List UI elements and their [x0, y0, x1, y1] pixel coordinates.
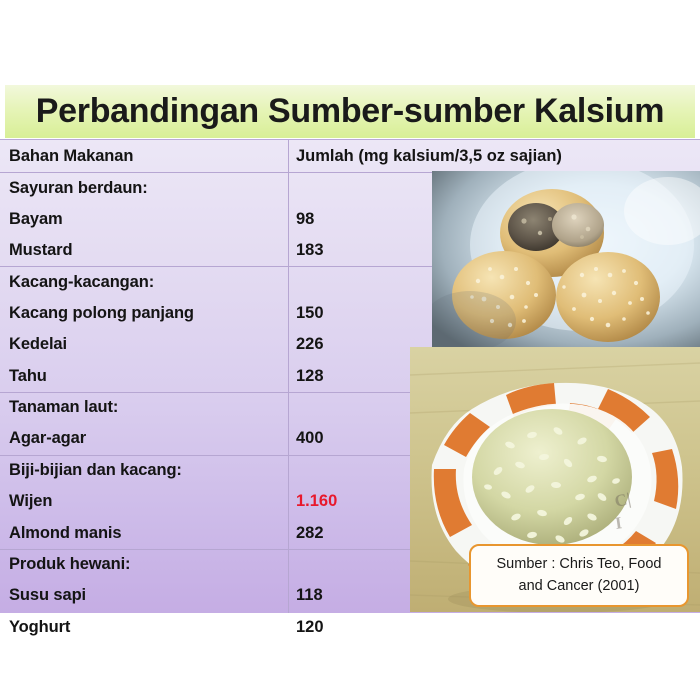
row-amount-value: 226: [296, 329, 416, 360]
row-food-label: Wijen: [9, 486, 281, 517]
row-amount-value: 98: [296, 203, 416, 234]
table-row: Yoghurt120: [0, 612, 700, 643]
row-food-label: Tahu: [9, 360, 281, 391]
sesame-balls-photo: [432, 171, 700, 347]
row-food-label: Almond manis: [9, 517, 281, 548]
row-amount-value: [296, 267, 416, 297]
source-line-2: and Cancer (2001): [519, 576, 640, 597]
row-amount-value: [296, 393, 416, 423]
row-amount-value: 183: [296, 235, 416, 266]
column-header-food: Bahan Makanan: [9, 140, 281, 172]
row-food-label: Bayam: [9, 203, 281, 234]
row-food-label: Kacang polong panjang: [9, 298, 281, 329]
row-amount-value: 400: [296, 423, 416, 454]
row-group-label: Sayuran berdaun:: [9, 173, 281, 203]
row-group-label: Biji-bijian dan kacang:: [9, 456, 281, 486]
row-amount-value: 120: [296, 612, 416, 643]
row-group-label: Produk hewani:: [9, 550, 281, 580]
row-food-label: Kedelai: [9, 329, 281, 360]
source-citation-box: Sumber : Chris Teo, Food and Cancer (200…: [469, 544, 689, 607]
row-amount-value: [296, 550, 416, 580]
row-amount-value: 150: [296, 298, 416, 329]
row-amount-value: [296, 173, 416, 203]
page-title: Perbandingan Sumber-sumber Kalsium: [36, 92, 664, 131]
row-food-label: Yoghurt: [9, 612, 281, 643]
table-header-row: Bahan MakananJumlah (mg kalsium/3,5 oz s…: [0, 140, 700, 172]
row-food-label: Mustard: [9, 235, 281, 266]
row-food-label: Agar-agar: [9, 423, 281, 454]
row-group-label: Kacang-kacangan:: [9, 267, 281, 297]
column-header-amount: Jumlah (mg kalsium/3,5 oz sajian): [296, 140, 696, 172]
source-line-1: Sumber : Chris Teo, Food: [497, 554, 662, 575]
row-amount-value: 128: [296, 360, 416, 391]
row-amount-value: 282: [296, 517, 416, 548]
sesame-balls-image: [432, 171, 700, 347]
row-group-label: Tanaman laut:: [9, 393, 281, 423]
row-amount-value: 1.160: [296, 486, 416, 517]
slide-canvas: Perbandingan Sumber-sumber Kalsium Bahan…: [0, 0, 700, 700]
slide-title-band: Perbandingan Sumber-sumber Kalsium: [5, 85, 695, 138]
row-amount-value: [296, 456, 416, 486]
row-food-label: Susu sapi: [9, 580, 281, 611]
row-amount-value: 118: [296, 580, 416, 611]
